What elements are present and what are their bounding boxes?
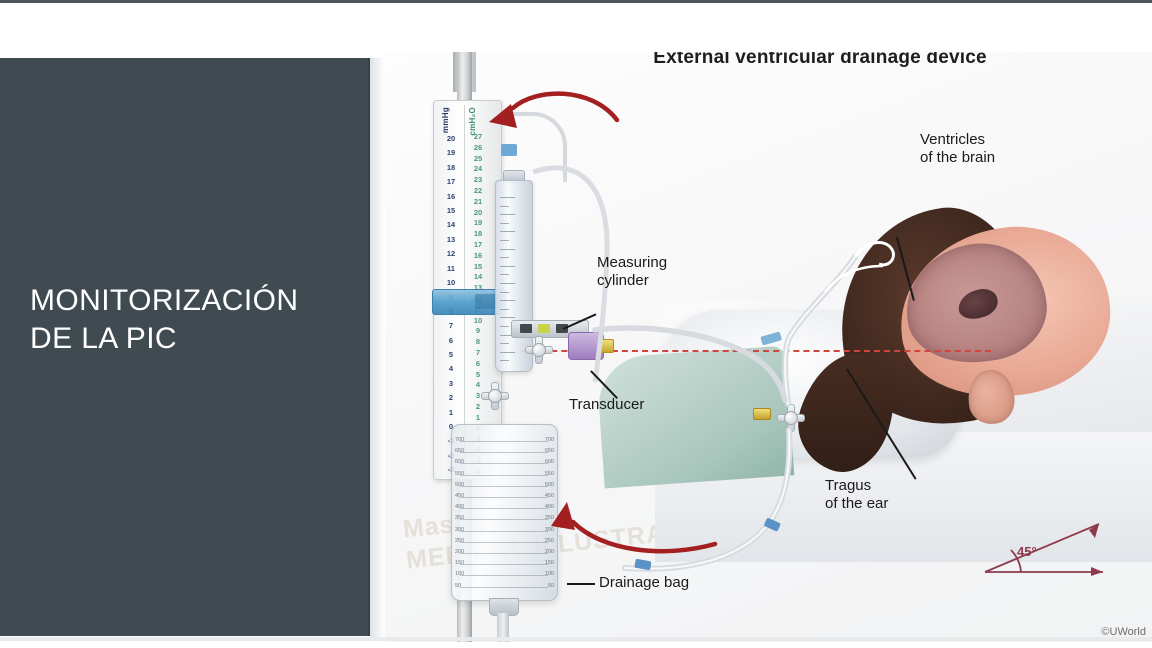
bag-graduation-label: 200	[545, 549, 554, 555]
bag-graduation-label: 50	[455, 583, 461, 589]
bag-graduation-label: 200	[455, 549, 464, 555]
scale-tick: 17	[466, 241, 490, 249]
bag-graduation-label: 600	[545, 459, 554, 465]
cylinder-graduation	[500, 197, 515, 198]
scale-tick: 8	[466, 338, 490, 346]
label-transducer: Transducer	[569, 396, 644, 414]
bag-graduation-label: 100	[545, 571, 554, 577]
cylinder-graduation	[500, 223, 509, 224]
bag-graduation-label: 550	[545, 471, 554, 477]
cylinder-graduation	[500, 300, 515, 301]
label-tragus-line1: Tragus	[825, 477, 888, 495]
label-measuring-cylinder-line2: cylinder	[597, 272, 667, 290]
bag-graduation-line	[460, 497, 548, 498]
cylinder-graduation	[500, 292, 509, 293]
cylinder-graduation	[500, 343, 509, 344]
scale-tick: 23	[466, 176, 490, 184]
stopcock-patient-line[interactable]	[777, 404, 803, 430]
cylinder-graduation	[500, 360, 509, 361]
bag-graduation-line	[460, 531, 548, 532]
bag-graduation-label: 400	[455, 504, 464, 510]
bag-graduation-line	[460, 508, 548, 509]
scale-tick: 1	[466, 414, 490, 422]
scale-tick: 19	[466, 219, 490, 227]
bag-graduation-label: 400	[545, 504, 554, 510]
manifold-chip-b	[538, 324, 550, 333]
bag-graduation-label: 650	[455, 448, 464, 454]
scale-tick: 20	[439, 135, 463, 143]
scale-tick: 14	[466, 273, 490, 281]
scale-tick: 20	[466, 209, 490, 217]
bag-graduation-label: 700	[545, 437, 554, 443]
leader-drainage-bag	[567, 583, 595, 585]
cylinder-graduation	[500, 214, 515, 215]
cylinder-graduation	[500, 309, 509, 310]
scale-tick: 9	[466, 327, 490, 335]
cylinder-graduation	[500, 352, 515, 353]
patient-head	[840, 202, 1120, 452]
bag-graduation-label: 650	[545, 448, 554, 454]
scale-tick: 2	[439, 394, 463, 402]
bag-graduation-line	[460, 575, 548, 576]
cylinder-graduation	[500, 326, 509, 327]
manifold-chip-a	[520, 324, 532, 333]
stopcock-upper[interactable]	[525, 336, 551, 362]
scale-tick: 25	[466, 155, 490, 163]
slide-canvas: MONITORIZACIÓN DE LA PIC External ventri…	[0, 0, 1152, 648]
scale-tick: 13	[439, 236, 463, 244]
scale-tick: 6	[466, 360, 490, 368]
bag-graduation-line	[460, 587, 548, 588]
bag-graduation-label: 50	[548, 583, 554, 589]
bag-graduation-line	[460, 452, 548, 453]
scale-tick: 10	[439, 279, 463, 287]
label-tragus-line2: of the ear	[825, 495, 888, 513]
scale-tick: 6	[439, 337, 463, 345]
bag-graduation-label: 700	[455, 437, 464, 443]
scale-tick: 19	[439, 149, 463, 157]
top-divider-rule	[0, 0, 1152, 3]
scale-tick: 7	[466, 349, 490, 357]
cylinder-graduation	[500, 283, 515, 284]
scale-tick: 12	[439, 250, 463, 258]
manometer-scale-board: mmHg 20191817161514131211109876543210-1-…	[433, 100, 502, 480]
scale-tick: 1	[439, 409, 463, 417]
panel-gap	[370, 58, 385, 638]
scale-tick: 3	[439, 380, 463, 388]
cylinder-graduation	[500, 317, 515, 318]
drainage-bag: 7007006506506006005505505005004504504004…	[451, 424, 558, 601]
scale-tick: 24	[466, 165, 490, 173]
page-title: MONITORIZACIÓN DE LA PIC	[30, 282, 360, 359]
bag-graduation-label: 600	[455, 459, 464, 465]
scale-tick: 11	[439, 265, 463, 273]
scale-tick: 27	[466, 133, 490, 141]
bed-angle-label: 45°	[1017, 544, 1037, 559]
cylinder-graduation	[500, 257, 509, 258]
page-title-line2: DE LA PIC	[30, 320, 360, 358]
bag-graduation-label: 450	[455, 493, 464, 499]
bag-graduation-label: 250	[545, 538, 554, 544]
stopcock-lower[interactable]	[481, 382, 507, 408]
cylinder-graduation	[500, 249, 515, 250]
pressure-transducer	[568, 332, 604, 360]
bag-graduation-label: 350	[455, 515, 464, 521]
scale-tick: 10	[466, 317, 490, 325]
label-ventricles-of-the-brain: Ventricles of the brain	[920, 131, 995, 168]
yellow-injection-port	[753, 408, 771, 420]
label-measuring-cylinder: Measuring cylinder	[597, 254, 667, 291]
scale-tick: 26	[466, 144, 490, 152]
scale-tick: 16	[466, 252, 490, 260]
bag-graduation-line	[460, 553, 548, 554]
label-drainage-bag: Drainage bag	[599, 574, 689, 592]
bag-graduation-label: 500	[455, 482, 464, 488]
bottom-divider-rule	[0, 637, 1152, 641]
cylinder-graduation	[500, 240, 509, 241]
bag-graduation-label: 350	[545, 515, 554, 521]
scale-tick: 5	[439, 351, 463, 359]
illustration-title: External ventricular drainage device	[590, 52, 1050, 69]
bag-graduation-label: 100	[455, 571, 464, 577]
scale-tick: 17	[439, 178, 463, 186]
label-ventricles-line1: Ventricles	[920, 131, 995, 149]
scale-tick: 15	[439, 207, 463, 215]
scale-tick: 14	[439, 221, 463, 229]
bag-graduation-line	[460, 463, 548, 464]
bag-graduation-label: 150	[545, 560, 554, 566]
bag-graduation-label: 250	[455, 538, 464, 544]
bag-graduation-label: 450	[545, 493, 554, 499]
scale-tick: 22	[466, 187, 490, 195]
bag-graduation-line	[460, 564, 548, 565]
bag-graduation-line	[460, 475, 548, 476]
bag-graduation-label: 300	[455, 527, 464, 533]
cylinder-graduation	[500, 206, 509, 207]
label-tragus-of-the-ear: Tragus of the ear	[825, 477, 888, 514]
scale-tick: 5	[466, 371, 490, 379]
bag-graduation-label: 550	[455, 471, 464, 477]
bag-graduation-line	[460, 519, 548, 520]
bag-graduation-line	[460, 486, 548, 487]
scale-tick: 18	[466, 230, 490, 238]
bed-angle-marker: 45°	[980, 522, 1100, 582]
bag-graduation-label: 300	[545, 527, 554, 533]
scale-tick: 16	[439, 193, 463, 201]
label-measuring-cylinder-line1: Measuring	[597, 254, 667, 272]
scale-tick: 18	[439, 164, 463, 172]
cylinder-graduation	[500, 231, 515, 232]
scale-tick: 21	[466, 198, 490, 206]
label-ventricles-line2: of the brain	[920, 149, 995, 167]
bag-graduation-line	[460, 441, 548, 442]
page-title-line1: MONITORIZACIÓN	[30, 284, 298, 317]
illustration-canvas: External ventricular drainage device Mas…	[385, 52, 1152, 642]
cylinder-graduation	[500, 266, 515, 267]
bag-graduation-label: 150	[455, 560, 464, 566]
scale-tick: 4	[439, 365, 463, 373]
scale-tick: 7	[439, 322, 463, 330]
cylinder-graduation	[500, 274, 509, 275]
bag-graduation-line	[460, 542, 548, 543]
scale-tick: 15	[466, 263, 490, 271]
mmhg-scale-header: mmHg	[441, 107, 450, 133]
bag-graduation-label: 500	[545, 482, 554, 488]
